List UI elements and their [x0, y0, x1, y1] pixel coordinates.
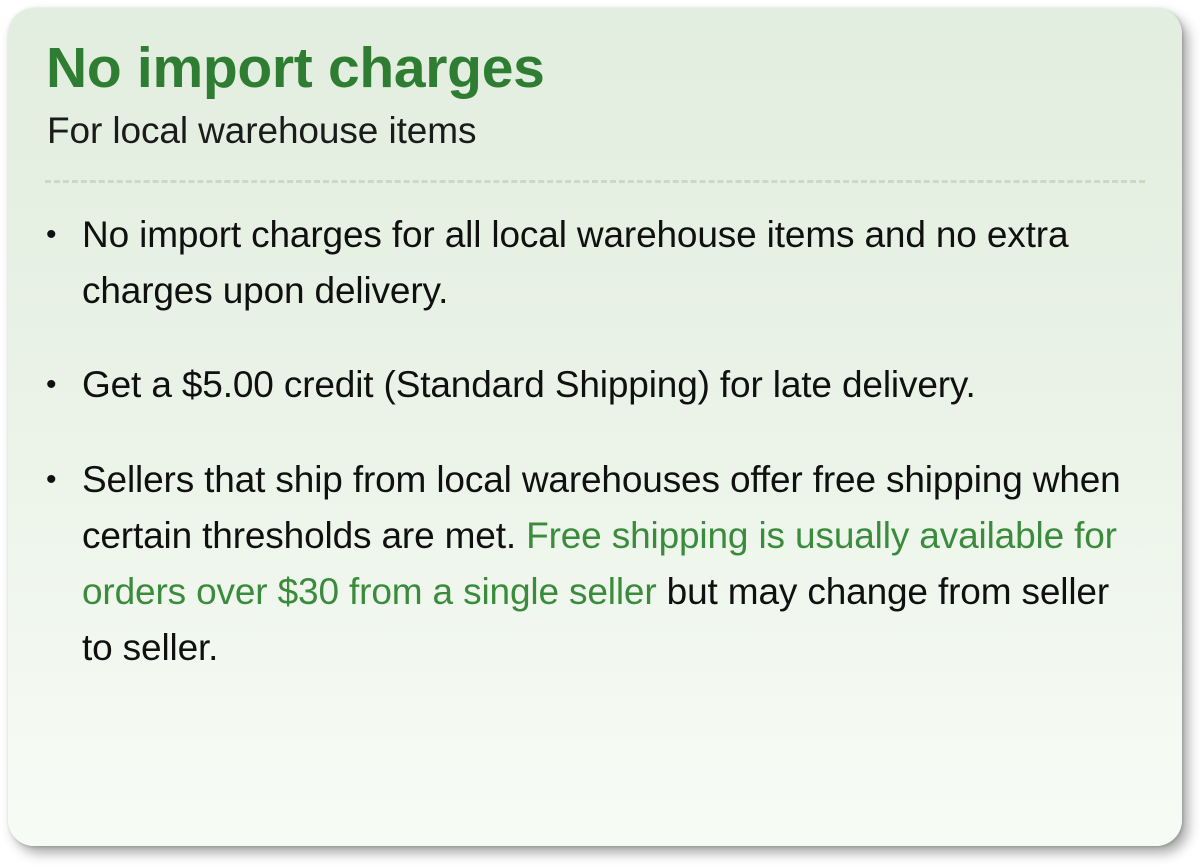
import-charges-info-card: No import charges For local warehouse it…	[8, 8, 1182, 846]
bullet-dot-icon: •	[44, 207, 82, 263]
header-divider	[45, 180, 1145, 183]
card-header: No import charges For local warehouse it…	[44, 38, 1146, 151]
list-item: •Get a $5.00 credit (Standard Shipping) …	[44, 357, 1146, 413]
bullet-dot-icon: •	[44, 452, 82, 508]
body-text: Get a $5.00 credit (Standard Shipping) f…	[82, 364, 976, 405]
list-item-text: No import charges for all local warehous…	[82, 207, 1144, 319]
card-subtitle: For local warehouse items	[47, 110, 1146, 151]
list-item-text: Get a $5.00 credit (Standard Shipping) f…	[82, 357, 1144, 413]
list-item: •No import charges for all local warehou…	[44, 207, 1146, 319]
body-text: No import charges for all local warehous…	[82, 214, 1068, 311]
page-root: No import charges For local warehouse it…	[0, 0, 1200, 867]
benefits-list: •No import charges for all local warehou…	[44, 207, 1146, 677]
bullet-dot-icon: •	[44, 357, 82, 413]
page-title: No import charges	[46, 38, 1146, 100]
list-item: •Sellers that ship from local warehouses…	[44, 452, 1146, 677]
list-item-text: Sellers that ship from local warehouses …	[82, 452, 1144, 677]
